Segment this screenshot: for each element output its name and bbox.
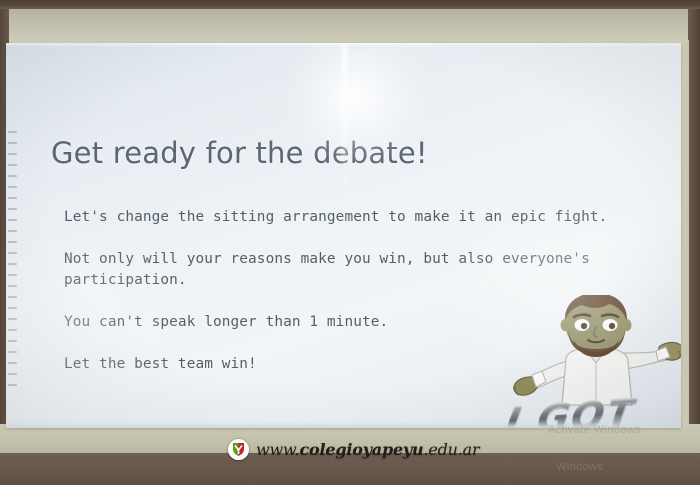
slide-paragraph-2: Not only will your reasons make you win,… (64, 249, 664, 291)
wall-upper-band (0, 9, 700, 45)
activate-windows-watermark: Activate Windows (548, 424, 641, 436)
url-prefix: www. (256, 440, 299, 459)
photo-canvas: Get ready for the debate! Let's change t… (0, 0, 700, 485)
wall-right-edge (688, 9, 700, 475)
site-watermark: www.colegioyapeyu.edu.ar (228, 439, 479, 460)
screen-top-highlight (6, 43, 681, 47)
slide-paragraph-3: You can't speak longer than 1 minute. (64, 312, 664, 333)
projector-hotspot (256, 43, 456, 193)
url-tld: .edu.ar (423, 440, 479, 459)
wall-top-band (0, 0, 700, 9)
url-main: colegioyapeyu (299, 440, 423, 459)
slide-title: Get ready for the debate! (51, 136, 428, 170)
colegio-yapeyu-shield-logo-icon (228, 439, 249, 460)
site-watermark-url: www.colegioyapeyu.edu.ar (256, 440, 479, 459)
projection-screen: Get ready for the debate! Let's change t… (6, 43, 681, 428)
slide-paragraph-1: Let's change the sitting arrangement to … (64, 207, 664, 228)
slide-paragraph-4: Let the best team win! (64, 354, 664, 375)
screen-left-tick-marks (8, 131, 18, 411)
slide-body-text: Let's change the sitting arrangement to … (64, 207, 664, 375)
windows-watermark-secondary: Windows (556, 461, 603, 473)
